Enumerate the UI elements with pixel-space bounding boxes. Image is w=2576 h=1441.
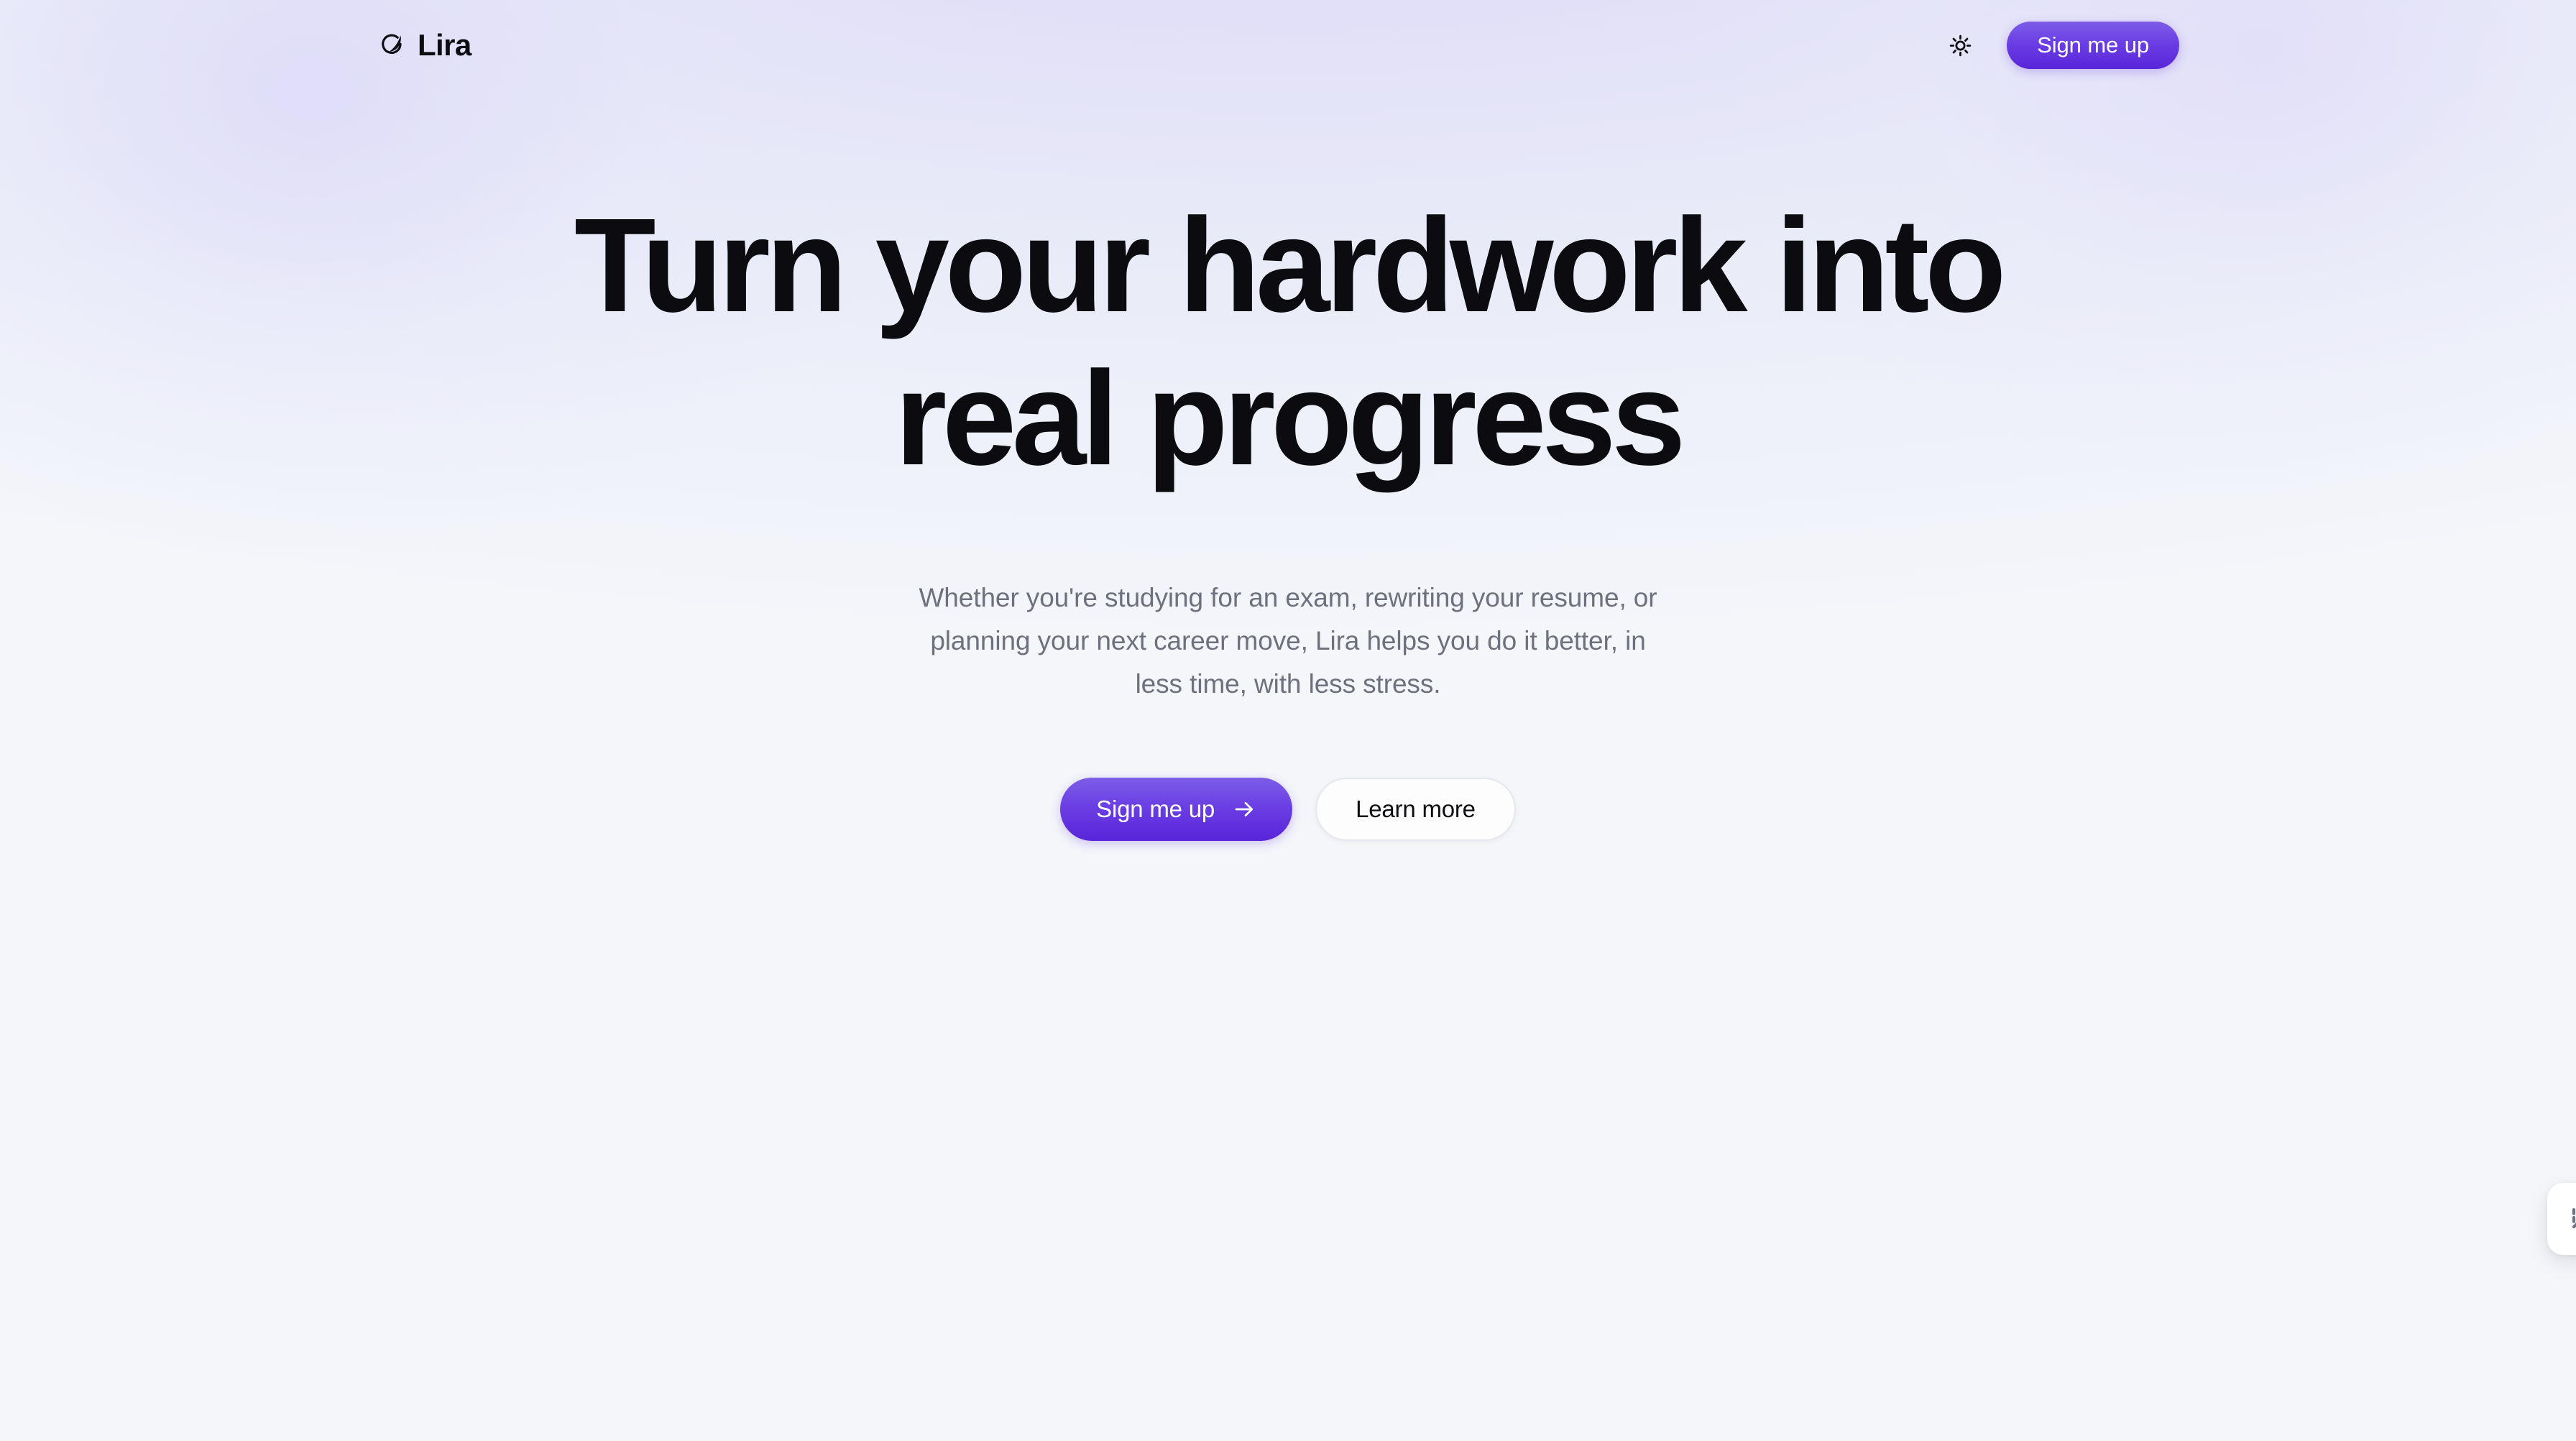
theme-toggle-button[interactable] [1943, 29, 1977, 62]
hero-section: Turn your hardwork into real progress Wh… [0, 0, 2576, 1056]
brand-logo[interactable]: Lira [379, 30, 471, 60]
header-actions: Sign me up [1943, 22, 2179, 69]
header-signup-label: Sign me up [2037, 32, 2149, 58]
hero-signup-label: Sign me up [1096, 796, 1215, 823]
hero-learn-more-button[interactable]: Learn more [1315, 778, 1516, 841]
floating-help-widget[interactable] [2547, 1183, 2576, 1255]
hero-signup-button[interactable]: Sign me up [1060, 778, 1292, 841]
arrow-right-icon [1232, 797, 1256, 821]
header-signup-button[interactable]: Sign me up [2007, 22, 2179, 69]
help-glyph-icon [2566, 1203, 2576, 1235]
site-header: Lira Sign me up [0, 0, 2576, 91]
hero-learn-more-label: Learn more [1356, 796, 1476, 823]
hero-subtitle: Whether you're studying for an exam, rew… [918, 576, 1658, 706]
leaf-circle-logo-icon [379, 32, 405, 58]
sun-icon [1949, 34, 1972, 57]
brand-name: Lira [418, 30, 471, 60]
hero-title: Turn your hardwork into real progress [476, 190, 2100, 496]
hero-action-group: Sign me up Learn more [1060, 778, 1516, 841]
